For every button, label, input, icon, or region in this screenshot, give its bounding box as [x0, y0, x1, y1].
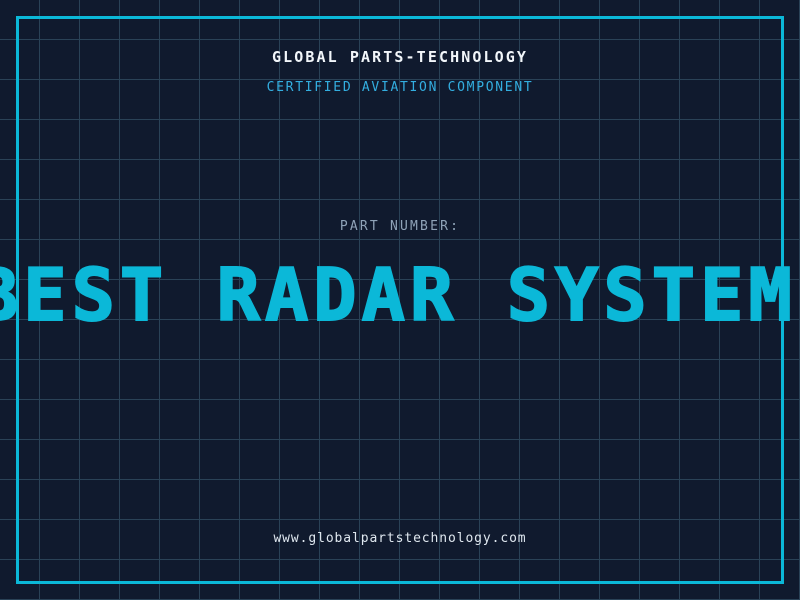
- blueprint-card: GLOBAL PARTS-TECHNOLOGY CERTIFIED AVIATI…: [0, 0, 800, 600]
- company-name: GLOBAL PARTS-TECHNOLOGY: [0, 48, 800, 66]
- part-number-label: PART NUMBER:: [0, 219, 800, 234]
- website-url: www.globalpartstechnology.com: [0, 531, 800, 546]
- card-content: GLOBAL PARTS-TECHNOLOGY CERTIFIED AVIATI…: [0, 0, 800, 600]
- certification-tagline: CERTIFIED AVIATION COMPONENT: [0, 80, 800, 95]
- part-number-headline: BEST RADAR SYSTEMS: [0, 258, 800, 338]
- part-number-headline-text: BEST RADAR SYSTEMS: [0, 253, 800, 337]
